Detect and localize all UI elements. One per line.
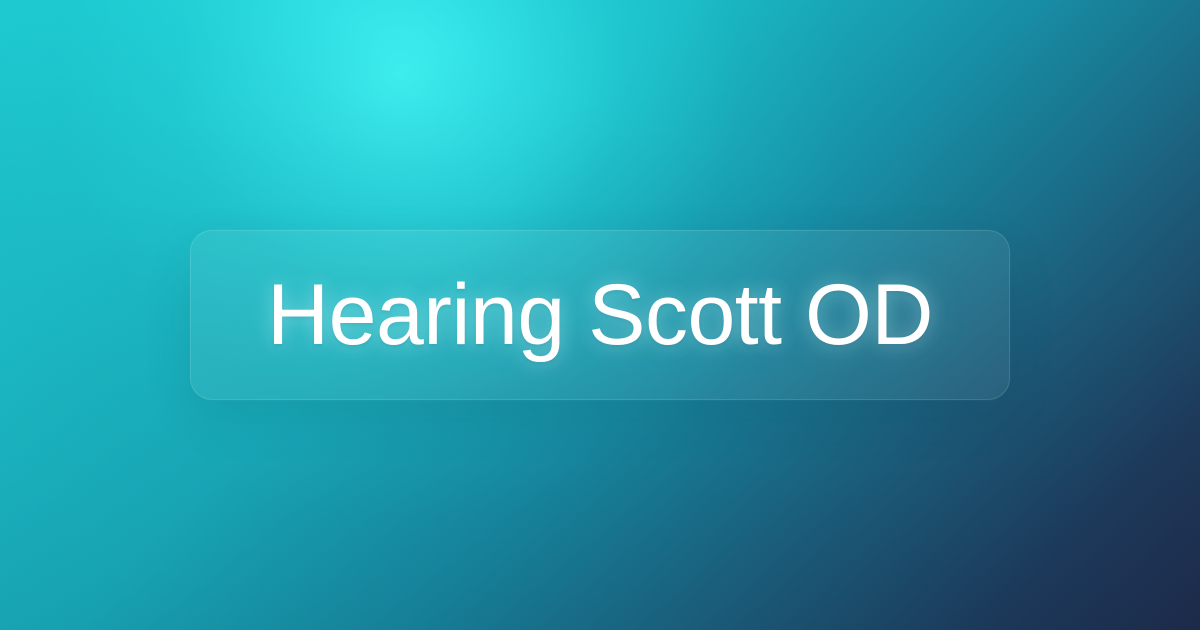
page-title: Hearing Scott OD bbox=[267, 272, 933, 358]
title-panel: Hearing Scott OD bbox=[190, 230, 1010, 400]
content-layer: Hearing Scott OD bbox=[0, 0, 1200, 630]
open-graph-preview-card: Hearing Scott OD bbox=[0, 0, 1200, 630]
